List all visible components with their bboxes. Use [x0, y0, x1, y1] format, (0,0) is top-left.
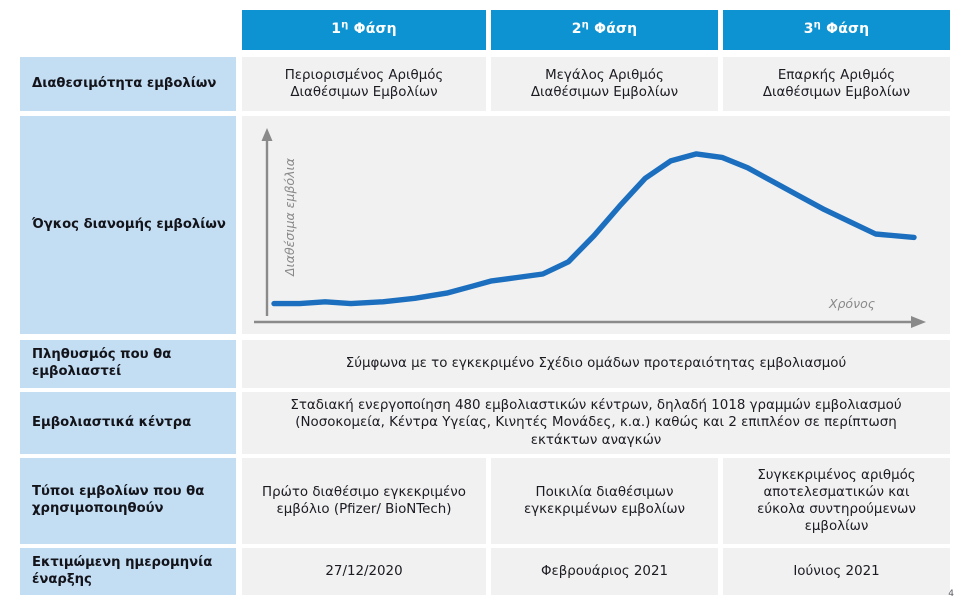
- phase-header-1-label: 1η Φάση: [331, 21, 397, 39]
- cell-vaccine-types-phase2-text: Ποικιλία διαθέσιμων εγκεκριμένων εμβολίω…: [524, 484, 685, 518]
- phase-header-1: 1η Φάση: [242, 10, 486, 50]
- row-label-vaccine-types-text: Τύποι εμβολίων που θα χρησιμοποιηθούν: [32, 484, 226, 518]
- cell-availability-phase3-text: Επαρκής Αριθμός Διαθέσιμων Εμβολίων: [763, 67, 910, 101]
- cell-availability-phase2-text: Μεγάλος Αριθμός Διαθέσιμων Εμβολίων: [531, 67, 678, 101]
- chart-x-axis-label: Χρόνος: [828, 296, 875, 311]
- cell-availability-phase1-text: Περιορισμένος Αριθμός Διαθέσιμων Εμβολίω…: [285, 67, 444, 101]
- cell-vaccine-types-phase3-text: Συγκεκριμένος αριθμός αποτελεσματικών κα…: [757, 467, 916, 536]
- cell-start-date-phase3-text: Ιούνιος 2021: [793, 563, 879, 580]
- row-label-availability: Διαθεσιμότητα εμβολίων: [20, 57, 236, 111]
- chart-series-line: [274, 154, 914, 304]
- cell-vaccine-types-phase1-text: Πρώτο διαθέσιμο εγκεκριμένο εμβόλιο (Pfi…: [262, 484, 466, 518]
- phase-header-2: 2η Φάση: [491, 10, 718, 50]
- row-label-vaccination-centres: Εμβολιαστικά κέντρα: [20, 392, 236, 454]
- cell-start-date-phase1: 27/12/2020: [242, 548, 486, 595]
- cell-population-all-phases: Σύμφωνα με το εγκεκριμένο Σχέδιο ομάδων …: [242, 340, 950, 388]
- row-label-vaccine-types: Τύποι εμβολίων που θα χρησιμοποιηθούν: [20, 458, 236, 544]
- cell-vaccination-centres-all-phases: Σταδιακή ενεργοποίηση 480 εμβολιαστικών …: [242, 392, 950, 454]
- x-axis: [254, 316, 926, 328]
- cell-start-date-phase1-text: 27/12/2020: [325, 563, 402, 580]
- cell-vaccine-types-phase2: Ποικιλία διαθέσιμων εγκεκριμένων εμβολίω…: [491, 458, 718, 544]
- phase-header-3: 3η Φάση: [723, 10, 950, 50]
- row-label-population-text: Πληθυσμός που θα εμβολιαστεί: [32, 347, 226, 381]
- cell-start-date-phase2: Φεβρουάριος 2021: [491, 548, 718, 595]
- distribution-volume-chart: Διαθέσιμα εμβόλια Χρόνος: [242, 116, 950, 334]
- row-label-population: Πληθυσμός που θα εμβολιαστεί: [20, 340, 236, 388]
- cell-vaccine-types-phase1: Πρώτο διαθέσιμο εγκεκριμένο εμβόλιο (Pfi…: [242, 458, 486, 544]
- row-label-estimated-start-date-text: Εκτιμώμενη ημερομηνία έναρξης: [32, 555, 226, 589]
- cell-start-date-phase2-text: Φεβρουάριος 2021: [541, 563, 668, 580]
- phase-header-3-label: 3η Φάση: [804, 21, 870, 39]
- slide-number: 4: [948, 589, 954, 599]
- cell-start-date-phase3: Ιούνιος 2021: [723, 548, 950, 595]
- cell-availability-phase1: Περιορισμένος Αριθμός Διαθέσιμων Εμβολίω…: [242, 57, 486, 111]
- row-label-availability-text: Διαθεσιμότητα εμβολίων: [32, 76, 216, 93]
- slide-canvas: 1η Φάση 2η Φάση 3η Φάση Διαθεσιμότητα εμ…: [0, 0, 960, 600]
- row-label-estimated-start-date: Εκτιμώμενη ημερομηνία έναρξης: [20, 548, 236, 595]
- chart-y-axis-label: Διαθέσιμα εμβόλια: [282, 157, 297, 277]
- cell-vaccination-centres-text: Σταδιακή ενεργοποίηση 480 εμβολιαστικών …: [268, 397, 924, 448]
- row-label-distribution-volume-text: Όγκος διανομής εμβολίων: [32, 217, 226, 234]
- cell-population-text: Σύμφωνα με το εγκεκριμένο Σχέδιο ομάδων …: [346, 355, 846, 372]
- phase-header-2-label: 2η Φάση: [572, 21, 638, 39]
- row-label-distribution-volume: Όγκος διανομής εμβολίων: [20, 116, 236, 334]
- cell-vaccine-types-phase3: Συγκεκριμένος αριθμός αποτελεσματικών κα…: [723, 458, 950, 544]
- cell-availability-phase3: Επαρκής Αριθμός Διαθέσιμων Εμβολίων: [723, 57, 950, 111]
- y-axis: [262, 128, 273, 316]
- cell-availability-phase2: Μεγάλος Αριθμός Διαθέσιμων Εμβολίων: [491, 57, 718, 111]
- row-label-vaccination-centres-text: Εμβολιαστικά κέντρα: [32, 415, 191, 432]
- distribution-volume-chart-svg: Διαθέσιμα εμβόλια Χρόνος: [242, 116, 950, 334]
